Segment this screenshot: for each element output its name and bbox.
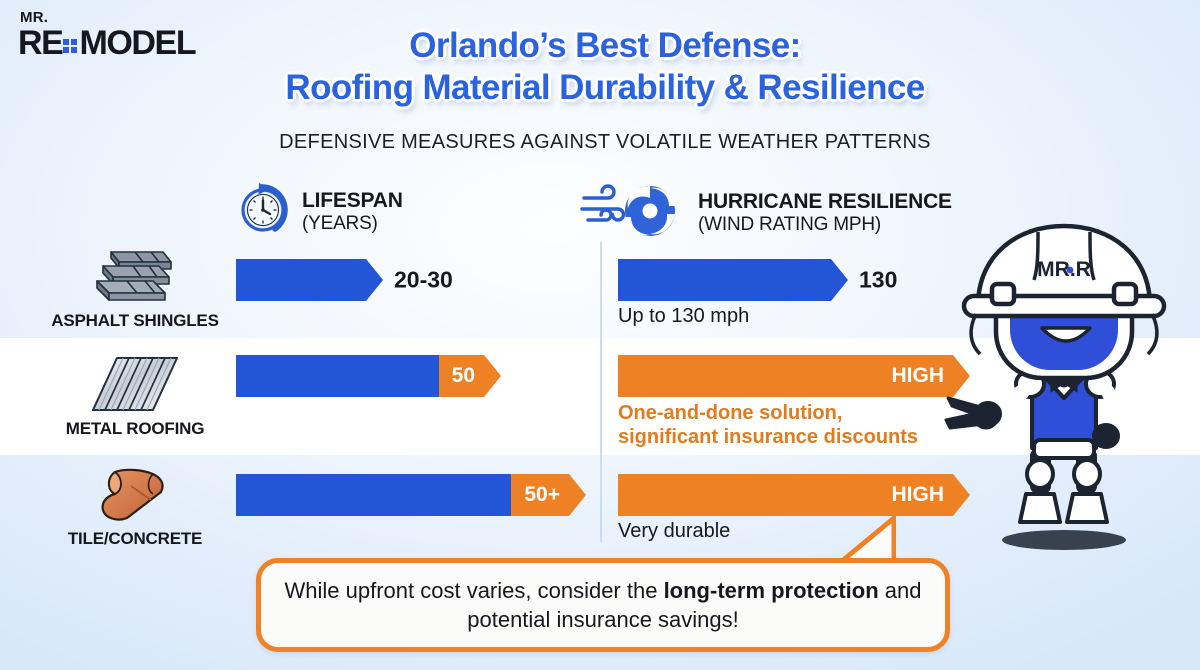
bar-segment-orange: 50	[439, 355, 484, 397]
column-title-lifespan: LIFESPAN	[302, 189, 403, 213]
column-divider	[600, 242, 602, 542]
column-header-lifespan: LIFESPAN (YEARS)	[238, 182, 403, 241]
bar-segment-orange: 50+	[511, 474, 569, 516]
bar-value-label: 50	[452, 364, 484, 388]
bar-note: Very durable	[618, 520, 730, 543]
mr-r-robot-mascot: MR.R	[930, 222, 1198, 552]
callout-text-bold: long-term protection	[664, 578, 879, 603]
title-line-1: Orlando’s Best Defense:	[170, 26, 1040, 65]
material-label: ASPHALT SHINGLES	[20, 311, 250, 331]
bar-track: 50	[236, 355, 501, 397]
metal-roofing-icon	[20, 352, 250, 414]
material-label: METAL ROOFING	[20, 419, 250, 439]
hurricane-wind-icon	[578, 182, 688, 243]
bar-value-label: 50+	[524, 483, 569, 507]
bar-value-label: 130	[859, 267, 897, 294]
clay-tile-icon	[20, 462, 250, 524]
bar-lifespan-asphalt: 20-30	[236, 259, 383, 301]
page-title: Orlando’s Best Defense: Roofing Material…	[170, 26, 1040, 107]
bar-track: HIGH	[618, 474, 970, 516]
bar-track: HIGH	[618, 355, 970, 397]
page-subtitle: DEFENSIVE MEASURES AGAINST VOLATILE WEAT…	[170, 131, 1040, 154]
material-tile-concrete: TILE/CONCRETE	[20, 462, 250, 549]
bar-arrow-tip	[569, 474, 586, 516]
bar-note: Up to 130 mph	[618, 305, 749, 328]
bar-resilience-tile: HIGH Very durable	[618, 474, 970, 516]
infographic-canvas: MR. RE MODEL Orlando’s Best Defense: Roo…	[0, 0, 1200, 670]
bar-segment-orange: HIGH	[618, 355, 953, 397]
column-subtitle-lifespan: (YEARS)	[302, 213, 403, 234]
title-line-2: Roofing Material Durability & Resilience	[170, 68, 1040, 107]
material-asphalt-shingles: ASPHALT SHINGLES	[20, 244, 250, 331]
bar-segment-blue	[236, 259, 366, 301]
bar-resilience-metal: HIGH One-and-done solution, significant …	[618, 355, 970, 397]
callout-text-before: While upfront cost varies, consider the	[285, 578, 664, 603]
bar-arrow-tip	[484, 355, 501, 397]
column-subtitle-hurricane: (WIND RATING MPH)	[698, 214, 952, 235]
logo-grid-dots-icon	[63, 39, 77, 53]
material-metal-roofing: METAL ROOFING	[20, 352, 250, 439]
bar-track: 50+	[236, 474, 586, 516]
clock-refresh-icon	[238, 182, 292, 241]
bar-arrow-tip	[831, 259, 848, 301]
bar-segment-orange: HIGH	[618, 474, 953, 516]
asphalt-shingles-icon	[20, 244, 250, 306]
helmet-label: MR.R	[1037, 258, 1091, 281]
column-title-hurricane: HURRICANE RESILIENCE	[698, 190, 952, 214]
bar-lifespan-metal: 50	[236, 355, 501, 397]
logo-mr-text: MR.	[20, 10, 228, 25]
bar-track: 20-30	[236, 259, 383, 301]
bar-arrow-tip	[366, 259, 383, 301]
material-label: TILE/CONCRETE	[20, 529, 250, 549]
bar-lifespan-tile: 50+	[236, 474, 586, 516]
bar-segment-blue	[618, 259, 831, 301]
callout-text: While upfront cost varies, consider the …	[261, 576, 945, 634]
bar-track: 130	[618, 259, 848, 301]
column-header-hurricane: HURRICANE RESILIENCE (WIND RATING MPH)	[578, 182, 952, 243]
bar-segment-blue	[236, 355, 456, 397]
logo-re-text: RE	[18, 26, 62, 60]
callout-bubble: While upfront cost varies, consider the …	[256, 558, 950, 652]
bar-value-label: 20-30	[394, 267, 453, 294]
bar-segment-blue	[236, 474, 528, 516]
bar-resilience-asphalt: 130 Up to 130 mph	[618, 259, 848, 301]
